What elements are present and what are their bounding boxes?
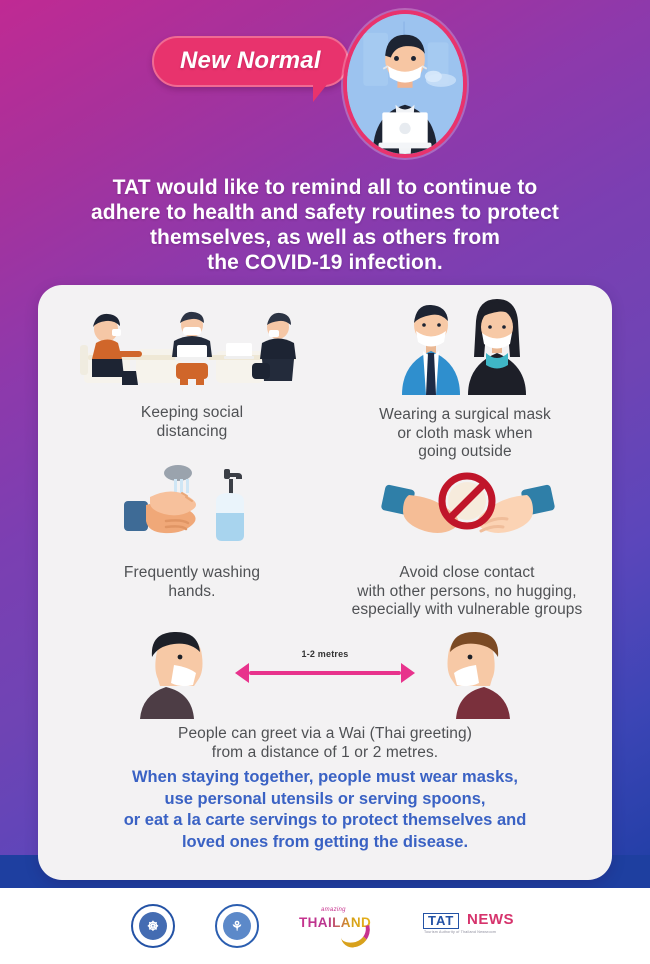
hands-washing-with-soap-dispenser-icon [56, 461, 328, 558]
logo-ministry-seal: ☸ [131, 904, 175, 948]
seal-glyph: ☸ [147, 920, 159, 933]
tip-wearing-mask: Wearing a surgical mask or cloth mask wh… [330, 295, 600, 462]
closing-line-1: When staying together, people must wear … [58, 767, 592, 789]
badge-bubble: New Normal [152, 36, 349, 87]
tip-wai-greeting: 1-2 metres People can greet via a Wai (T… [60, 619, 590, 762]
closing-paragraph: When staying together, people must wear … [58, 767, 592, 853]
tip-caption: Keeping social distancing [56, 404, 328, 441]
caption-line: distancing [56, 423, 328, 442]
hero-line-4: the COVID-19 infection. [35, 250, 615, 275]
caption-line: People can greet via a Wai (Thai greetin… [60, 725, 590, 744]
avatar [343, 10, 467, 158]
seal-glyph: ⚘ [231, 920, 243, 933]
caption-line: Keeping social [56, 404, 328, 423]
masked-man-with-laptop-icon [347, 14, 463, 154]
caption-line: with other persons, no hugging, [326, 583, 608, 602]
tat-news-icon: TAT NEWS Tourism Authority of Thailand N… [423, 909, 519, 943]
people-at-desks-distanced-icon [56, 301, 328, 398]
hero-line-1: TAT would like to remind all to continue… [35, 175, 615, 200]
hero-line-2: adhere to health and safety routines to … [35, 200, 615, 225]
badge-label: New Normal [180, 49, 321, 73]
amazing-thailand-icon: amazing THAILAND [299, 906, 383, 946]
tips-card: Keeping social distancing [38, 285, 612, 880]
tip-caption: Avoid close contact with other persons, … [326, 564, 608, 620]
caption-line: Wearing a surgical mask [330, 406, 600, 425]
distance-label: 1-2 metres [301, 649, 348, 659]
closing-line-4: loved ones from getting the disease. [58, 832, 592, 854]
amazing-word: amazing [321, 907, 346, 913]
caption-line: Avoid close contact [326, 564, 608, 583]
arrow-head-left-icon [235, 663, 249, 683]
closing-line-3: or eat a la carte servings to protect th… [58, 810, 592, 832]
closing-line-2: use personal utensils or serving spoons, [58, 789, 592, 811]
tip-avoid-close-contact: Avoid close contact with other persons, … [326, 461, 608, 620]
caption-line: going outside [330, 443, 600, 462]
tip-caption: Wearing a surgical mask or cloth mask wh… [330, 406, 600, 462]
arrow-head-right-icon [401, 663, 415, 683]
hero-line-3: themselves, as well as others from [35, 225, 615, 250]
logo-tat-news: TAT NEWS Tourism Authority of Thailand N… [423, 909, 519, 943]
badge-tail-icon [313, 82, 333, 102]
swoosh-icon [340, 925, 372, 949]
logo-tat-seal: ⚘ [215, 904, 259, 948]
caption-line: from a distance of 1 or 2 metres. [60, 744, 590, 763]
tip-social-distancing: Keeping social distancing [56, 301, 328, 441]
news-word: NEWS [467, 912, 514, 927]
caption-line: hands. [56, 583, 328, 602]
tip-washing-hands: Frequently washing hands. [56, 461, 328, 601]
footer-logo-bar: ☸ ⚘ amazing THAILAND TAT NEWS Tourism Au… [0, 888, 650, 964]
infographic-poster: New Normal [0, 0, 650, 964]
tat-word: TAT [423, 913, 459, 929]
tip-caption: Frequently washing hands. [56, 564, 328, 601]
hero-paragraph: TAT would like to remind all to continue… [35, 175, 615, 275]
logo-amazing-thailand: amazing THAILAND [299, 906, 383, 946]
caption-line: especially with vulnerable groups [326, 601, 608, 620]
distance-arrow-line [249, 671, 401, 675]
new-normal-badge: New Normal [152, 36, 349, 87]
tip-caption: People can greet via a Wai (Thai greetin… [60, 725, 590, 762]
caption-line: or cloth mask when [330, 425, 600, 444]
two-masked-people-facing-with-distance-arrow-icon: 1-2 metres [60, 619, 590, 719]
tourism-authority-seal-icon: ⚘ [215, 904, 259, 948]
circular-government-seal-icon: ☸ [131, 904, 175, 948]
man-and-woman-wearing-masks-icon [330, 295, 600, 400]
caption-line: Frequently washing [56, 564, 328, 583]
handshake-prohibited-icon [326, 461, 608, 558]
tat-news-tagline: Tourism Authority of Thailand Newsroom [424, 930, 519, 934]
